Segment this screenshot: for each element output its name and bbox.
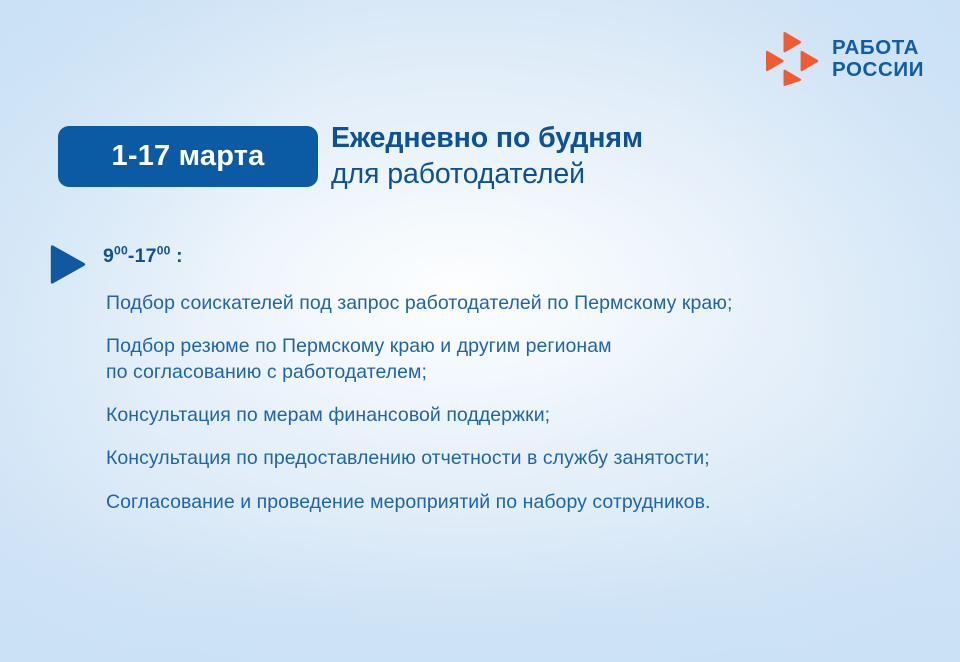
logo-wordmark-line2: РОССИИ bbox=[832, 59, 924, 81]
rabota-rossii-logo-mark-icon bbox=[764, 30, 822, 88]
play-triangle-icon bbox=[49, 244, 87, 285]
poster-canvas: РАБОТА РОССИИ 1-17 марта Ежедневно по бу… bbox=[0, 0, 960, 662]
time-separator: - bbox=[128, 245, 135, 267]
date-range-badge: 1-17 марта bbox=[58, 126, 318, 187]
logo-wordmark: РАБОТА РОССИИ bbox=[832, 37, 924, 80]
list-item: Подбор резюме по Пермскому краю и другим… bbox=[106, 334, 926, 385]
schedule-time-label: 900-1700 : bbox=[103, 245, 183, 268]
time-start-minutes: 00 bbox=[114, 244, 128, 258]
time-suffix: : bbox=[171, 245, 183, 267]
time-start-hour: 9 bbox=[103, 245, 114, 267]
list-item: Консультация по мерам финансовой поддерж… bbox=[106, 403, 926, 428]
logo-wordmark-line1: РАБОТА bbox=[832, 37, 924, 59]
schedule-time-row: 900-1700 : bbox=[49, 243, 183, 285]
list-item: Консультация по предоставлению отчетност… bbox=[106, 446, 926, 471]
rabota-rossii-logo: РАБОТА РОССИИ bbox=[764, 30, 924, 88]
time-end-hour: 17 bbox=[135, 245, 157, 267]
page-title: Ежедневно по будням для работодателей bbox=[331, 120, 643, 193]
services-list: Подбор соискателей под запрос работодате… bbox=[106, 291, 926, 515]
page-title-line2: для работодателей bbox=[331, 156, 643, 192]
list-item: Согласование и проведение мероприятий по… bbox=[106, 490, 926, 515]
list-item: Подбор соискателей под запрос работодате… bbox=[106, 291, 926, 316]
time-end-minutes: 00 bbox=[157, 244, 171, 258]
date-range-label: 1-17 марта bbox=[112, 140, 265, 173]
page-title-line1: Ежедневно по будням bbox=[331, 120, 643, 156]
